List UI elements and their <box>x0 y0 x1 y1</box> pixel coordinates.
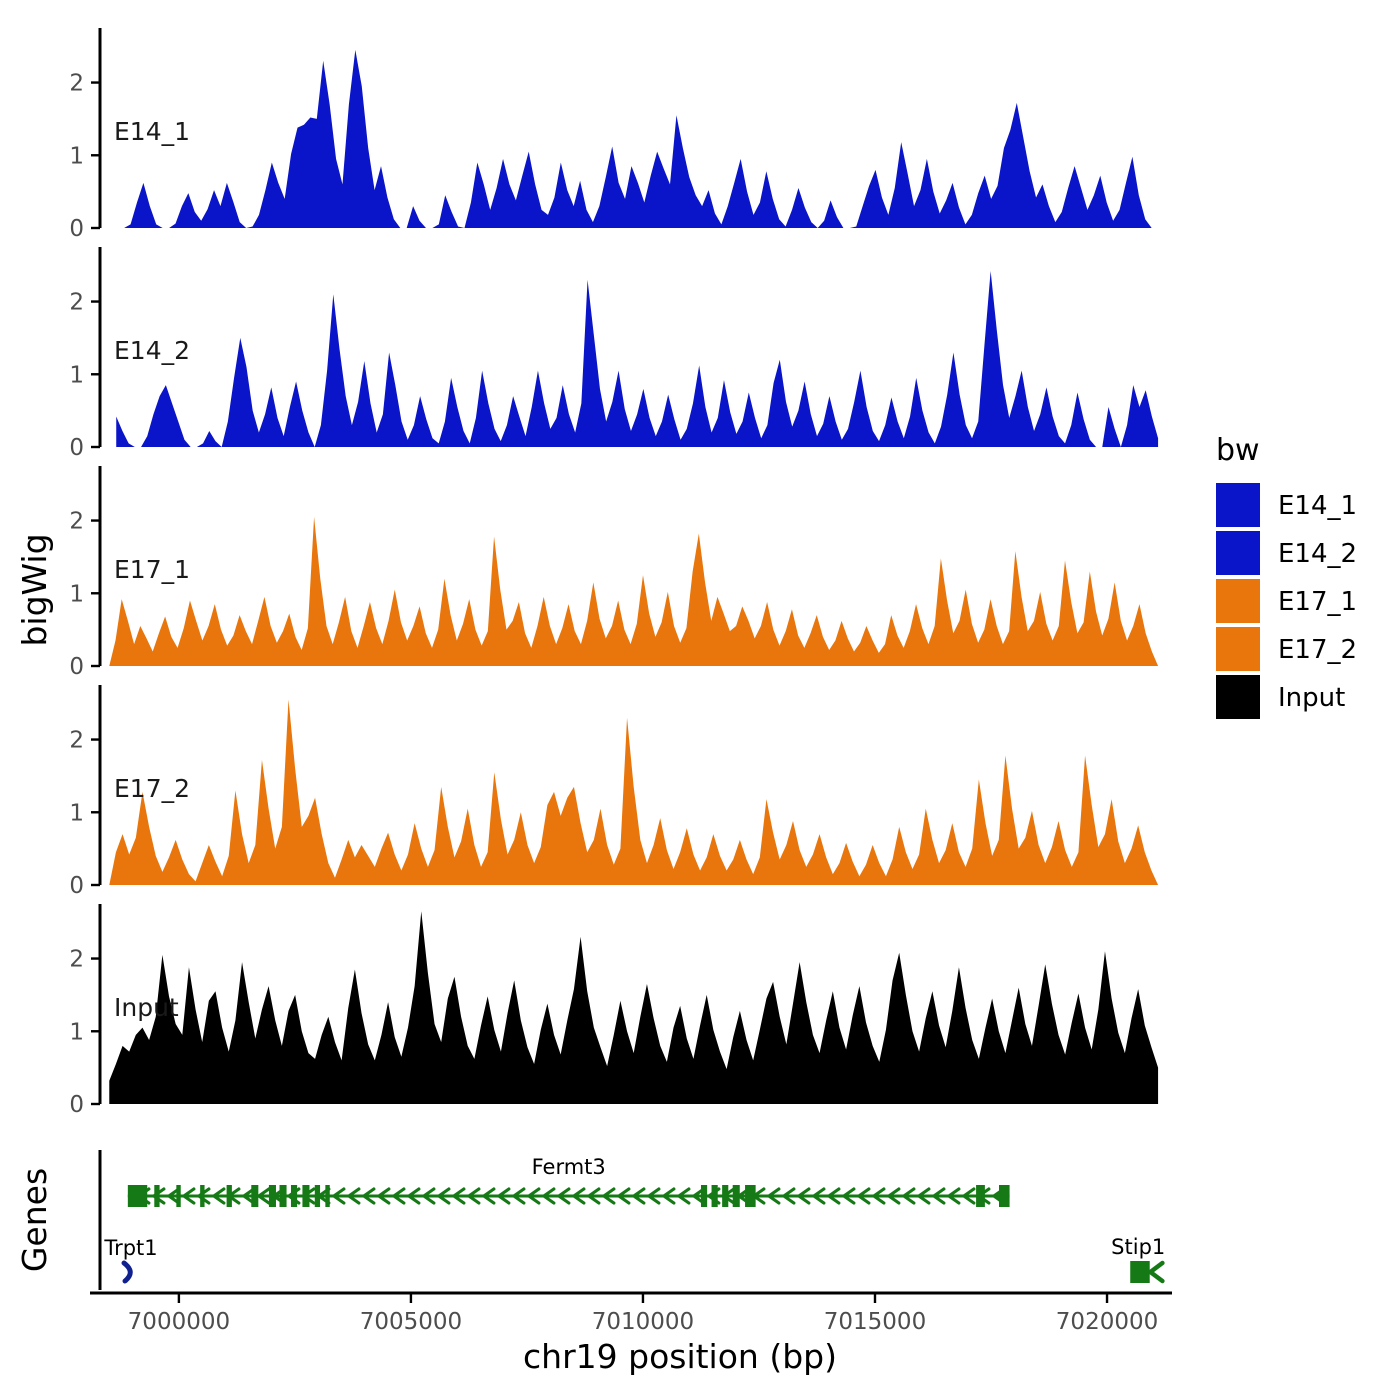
gene-exon <box>176 1185 180 1207</box>
gene-exon <box>269 1185 276 1207</box>
y-tick-label: 2 <box>69 728 84 754</box>
gene-exon <box>712 1185 718 1207</box>
track-area-e14_1 <box>124 50 1158 228</box>
gene-exon <box>976 1185 985 1207</box>
gene-exon <box>227 1185 232 1207</box>
legend-swatch <box>1216 627 1260 671</box>
legend-swatch <box>1216 483 1260 527</box>
gene-exon <box>999 1185 1010 1207</box>
track-area-e17_1 <box>109 517 1158 666</box>
genome-browser-figure: bigWig Genes chr19 position (bp) 012E14_… <box>0 0 1400 1400</box>
legend-swatch <box>1216 675 1260 719</box>
x-tick-label: 7015000 <box>824 1309 926 1335</box>
legend-label: Input <box>1278 683 1345 713</box>
y-tick-label: 2 <box>69 509 84 535</box>
track-panel-e14_1: 012E14_1 <box>69 28 1158 242</box>
gene-exon <box>722 1185 728 1207</box>
gene-exon <box>128 1185 147 1207</box>
track-panel-e17_1: 012E17_1 <box>69 466 1158 680</box>
gene-exon <box>745 1185 756 1207</box>
legend-swatch <box>1216 531 1260 575</box>
track-panel-e14_2: 012E14_2 <box>69 247 1158 461</box>
gene-label: Stip1 <box>1111 1235 1165 1259</box>
gene-exon <box>315 1185 320 1207</box>
y-tick-label: 0 <box>69 654 84 680</box>
legend-swatch <box>1216 579 1260 623</box>
gene-label: Trpt1 <box>103 1236 157 1260</box>
gene-fermt3[interactable]: Fermt3 <box>128 1155 1010 1207</box>
gene-trpt1[interactable]: Trpt1 <box>103 1236 157 1281</box>
y-tick-label: 2 <box>69 290 84 316</box>
gene-strand-arrow <box>124 1263 130 1281</box>
x-tick-label: 7005000 <box>360 1309 462 1335</box>
y-tick-label: 1 <box>69 1019 84 1045</box>
legend-label: E14_1 <box>1278 491 1357 521</box>
y-axis-title: bigWig <box>15 533 54 646</box>
y-tick-label: 1 <box>69 143 84 169</box>
track-area-e14_2 <box>116 271 1158 447</box>
track-panel-input: 012Input <box>69 904 1158 1118</box>
y-tick-label: 2 <box>69 947 84 973</box>
x-tick-label: 7000000 <box>128 1309 230 1335</box>
genes-panel: Fermt3Trpt1Stip1 <box>100 1150 1165 1290</box>
panel-label-e14_1: E14_1 <box>114 117 190 146</box>
panel-label-e14_2: E14_2 <box>114 336 190 365</box>
y-tick-label: 2 <box>69 71 84 97</box>
x-axis: 70000007005000701000070150007020000 <box>90 1293 1172 1335</box>
track-panels: 012E14_1012E14_2012E17_1012E17_2012Input <box>69 28 1158 1118</box>
track-area-input <box>109 911 1158 1104</box>
track-area-e17_2 <box>109 700 1158 885</box>
y-tick-label: 0 <box>69 1092 84 1118</box>
gene-exon <box>251 1185 258 1207</box>
y-tick-label: 0 <box>69 435 84 461</box>
gene-exon <box>302 1185 309 1207</box>
legend-label: E14_2 <box>1278 539 1357 569</box>
legend-title: bw <box>1216 433 1260 468</box>
legend-item-e14_1[interactable]: E14_1 <box>1216 483 1357 527</box>
y-tick-label: 0 <box>69 216 84 242</box>
gene-exon <box>701 1185 707 1207</box>
gene-exon <box>280 1185 287 1207</box>
y-tick-label: 1 <box>69 800 84 826</box>
gene-label: Fermt3 <box>532 1155 606 1179</box>
legend-item-e17_2[interactable]: E17_2 <box>1216 627 1357 671</box>
legend-label: E17_1 <box>1278 587 1357 617</box>
genes-axis-title: Genes <box>15 1168 54 1272</box>
track-panel-e17_2: 012E17_2 <box>69 685 1158 899</box>
y-tick-label: 1 <box>69 362 84 388</box>
gene-exon <box>1130 1261 1149 1283</box>
legend-label: E17_2 <box>1278 635 1357 665</box>
x-axis-title: chr19 position (bp) <box>523 1337 837 1376</box>
gene-exon <box>154 1185 159 1207</box>
gene-exon <box>325 1185 329 1207</box>
gene-stip1[interactable]: Stip1 <box>1111 1235 1165 1283</box>
legend-item-input[interactable]: Input <box>1216 675 1345 719</box>
gene-exon <box>200 1185 204 1207</box>
gene-exon <box>733 1185 740 1207</box>
panel-label-e17_2: E17_2 <box>114 774 190 803</box>
gene-strand-arrow <box>1150 1263 1162 1281</box>
panel-label-input: Input <box>114 993 179 1022</box>
panel-label-e17_1: E17_1 <box>114 555 190 584</box>
x-tick-label: 7010000 <box>592 1309 694 1335</box>
legend-item-e14_2[interactable]: E14_2 <box>1216 531 1357 575</box>
x-tick-label: 7020000 <box>1056 1309 1158 1335</box>
figure-root: bigWig Genes chr19 position (bp) 012E14_… <box>0 0 1400 1400</box>
y-tick-label: 1 <box>69 581 84 607</box>
gene-exon <box>291 1185 297 1207</box>
legend-item-e17_1[interactable]: E17_1 <box>1216 579 1357 623</box>
legend: bwE14_1E14_2E17_1E17_2Input <box>1216 433 1357 719</box>
y-tick-label: 0 <box>69 873 84 899</box>
